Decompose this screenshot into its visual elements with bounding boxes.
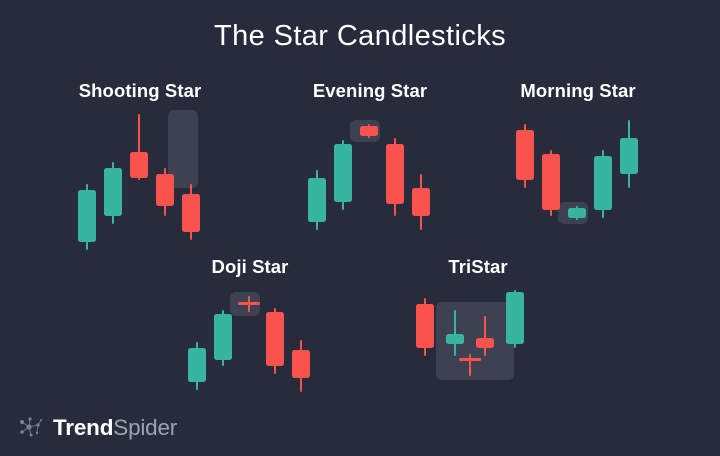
candle-morning-star-3 [568,106,586,266]
candle-body [568,208,586,218]
candle-body [416,304,434,348]
pattern-evening-star: Evening Star [290,80,450,256]
logo-word-spider: Spider [113,415,177,440]
candle-body [506,292,524,344]
candle-body [594,156,612,210]
candlestick-chart-morning-star [498,106,658,266]
candle-body [308,178,326,222]
candle-morning-star-5 [620,106,638,266]
candle-doji-star-5 [292,282,310,442]
candle-body [412,188,430,216]
candle-evening-star-4 [386,106,404,266]
pattern-tristar: TriStar [398,256,558,432]
candle-tristar-1 [416,282,434,442]
candle-body [292,350,310,378]
pattern-doji-star: Doji Star [170,256,330,432]
candle-body [104,168,122,216]
candle-shooting-star-3 [130,106,148,266]
candlestick-chart-tristar [398,282,558,442]
candle-body [182,194,200,232]
candle-shooting-star-1 [78,106,96,266]
candle-body [334,144,352,202]
candle-doji-star-2 [214,282,232,442]
logo-wordmark: TrendSpider [53,415,177,441]
pattern-label-evening-star: Evening Star [290,80,450,102]
candlestick-chart-evening-star [290,106,450,266]
candlestick-chart-shooting-star [60,106,220,266]
pattern-shooting-star: Shooting Star [60,80,220,256]
candle-morning-star-2 [542,106,560,266]
candle-shooting-star-5 [182,106,200,266]
candle-wick [454,310,456,356]
candle-body [266,312,284,366]
candle-morning-star-1 [516,106,534,266]
candle-tristar-4 [461,282,479,442]
candle-evening-star-1 [308,106,326,266]
candle-wick [484,316,486,356]
candle-body [360,126,378,136]
candle-doji-star-4 [266,282,284,442]
candle-body-doji [459,358,481,361]
candle-body [386,144,404,204]
logo-word-trend: Trend [53,415,113,440]
pattern-label-tristar: TriStar [398,256,558,278]
candle-doji-star-3 [240,282,258,442]
candle-body [620,138,638,174]
pattern-label-doji-star: Doji Star [170,256,330,278]
spider-nodes-icon [18,416,44,440]
candle-body [78,190,96,242]
candle-morning-star-4 [594,106,612,266]
candle-evening-star-5 [412,106,430,266]
candle-doji-star-1 [188,282,206,442]
candle-shooting-star-2 [104,106,122,266]
candle-body [130,152,148,178]
candle-evening-star-3 [360,106,378,266]
candle-body [188,348,206,382]
pattern-label-morning-star: Morning Star [498,80,658,102]
candle-tristar-5 [506,282,524,442]
candle-body [156,174,174,206]
page-title: The Star Candlesticks [0,20,720,53]
candle-body [214,314,232,360]
candle-body [516,130,534,180]
candle-body-doji [238,302,260,305]
candlestick-chart-doji-star [170,282,330,442]
candle-shooting-star-4 [156,106,174,266]
pattern-label-shooting-star: Shooting Star [60,80,220,102]
candle-evening-star-2 [334,106,352,266]
brand-logo: TrendSpider [18,415,177,441]
pattern-morning-star: Morning Star [498,80,658,256]
infographic-canvas: The Star Candlesticks Shooting StarEveni… [0,0,720,456]
candle-body [542,154,560,210]
